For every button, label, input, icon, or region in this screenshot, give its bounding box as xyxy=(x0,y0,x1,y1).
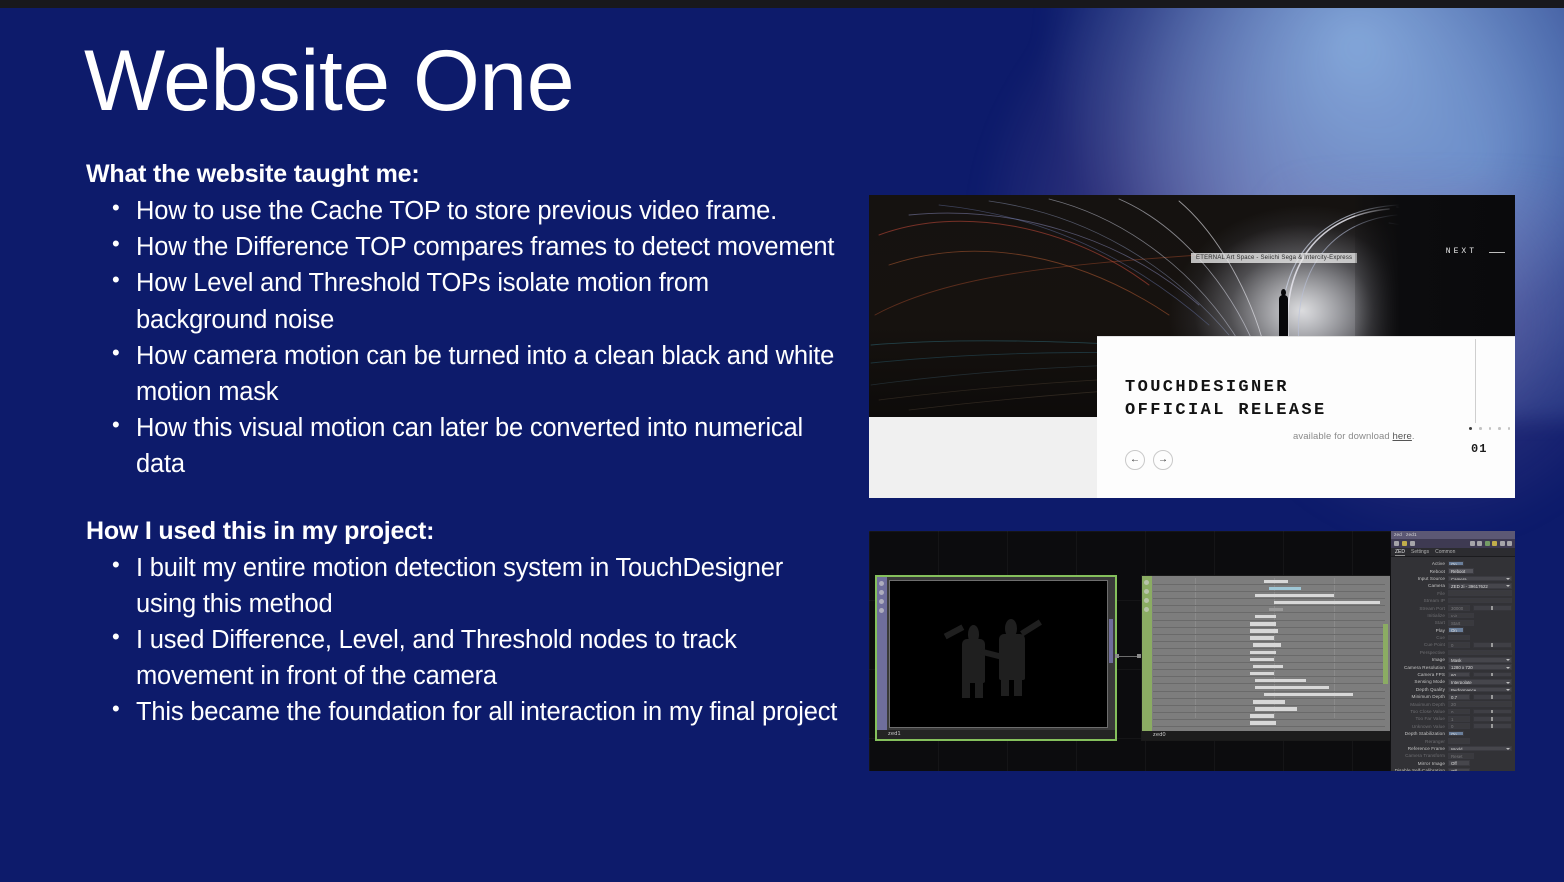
parameter-slider[interactable] xyxy=(1473,723,1512,729)
table-row xyxy=(1153,670,1385,677)
parameter-label: Camera Transform xyxy=(1391,753,1445,758)
presentation-slide: Website One What the website taught me: … xyxy=(0,0,1564,882)
table-row xyxy=(1153,613,1385,620)
table-row xyxy=(1153,621,1385,628)
parameters-title-bar: zed zed1 xyxy=(1391,531,1515,539)
parameter-label: Cue Point xyxy=(1391,642,1445,647)
node-left-strip xyxy=(877,577,887,739)
parameters-tabs: ZED Settings Common xyxy=(1391,548,1515,557)
table-row xyxy=(1153,692,1385,699)
table-row xyxy=(1153,727,1385,729)
next-dash-icon xyxy=(1489,252,1505,253)
table-row xyxy=(1153,628,1385,635)
parameter-value-field xyxy=(1448,598,1512,604)
parameters-title-left: zed xyxy=(1394,531,1402,539)
parameter-value-field[interactable]: Off xyxy=(1448,768,1470,771)
parameter-dropdown[interactable]: Performance xyxy=(1448,687,1512,693)
parameter-label: File xyxy=(1391,591,1445,596)
parameter-row: ActiveOn xyxy=(1391,560,1512,567)
parameter-value-field[interactable]: 0.7 xyxy=(1448,694,1470,700)
section-heading-used: How I used this in my project: xyxy=(86,517,846,546)
parameter-toggle[interactable]: On xyxy=(1448,731,1464,737)
carousel-dot[interactable] xyxy=(1489,427,1492,430)
parameter-label: Reboot xyxy=(1391,569,1445,574)
table-row xyxy=(1153,663,1385,670)
page-number: 01 xyxy=(1471,442,1487,456)
parameter-slider[interactable] xyxy=(1473,672,1512,678)
table-row xyxy=(1153,578,1385,585)
table-row xyxy=(1153,656,1385,663)
silhouette-person-right-leg2 xyxy=(1014,674,1023,696)
table-row xyxy=(1153,706,1385,713)
parameter-label: Reference Frame xyxy=(1391,746,1445,751)
parameter-label: Camera Resolution xyxy=(1391,665,1445,670)
next-label[interactable]: NEXT xyxy=(1446,247,1477,256)
parameter-toggle[interactable]: On xyxy=(1448,627,1464,633)
parameter-row: Stream Port30000 xyxy=(1391,604,1512,611)
silhouette-person-right-body xyxy=(999,634,1025,681)
parameter-slider[interactable] xyxy=(1473,709,1512,715)
node-table-content xyxy=(1153,578,1385,729)
tab-common[interactable]: Common xyxy=(1435,549,1455,555)
parameter-row: Minimum Depth0.7 xyxy=(1391,693,1512,700)
node-name-label: zed0 xyxy=(1142,731,1390,740)
parameter-dropdown[interactable]: World xyxy=(1448,746,1512,752)
release-announcement-panel: TOUCHDESIGNEROFFICIAL RELEASE available … xyxy=(1097,336,1515,498)
node-output-port[interactable] xyxy=(1115,654,1119,658)
parameter-row: Perspective xyxy=(1391,649,1512,656)
parameter-button: Start xyxy=(1448,620,1474,626)
release-headline-line2: OFFICIAL RELEASE xyxy=(1125,401,1327,420)
parameter-label: Input Source xyxy=(1391,576,1445,581)
parameters-panel: zed zed1 ZE xyxy=(1390,531,1515,771)
parameter-value-field[interactable]: 0 xyxy=(1448,642,1470,648)
edit-icon[interactable] xyxy=(1470,541,1475,546)
table-row xyxy=(1153,699,1385,706)
vertical-rule xyxy=(1475,339,1476,423)
parameter-value-field[interactable]: Off xyxy=(1448,760,1470,766)
parameter-value-field[interactable]: 0 xyxy=(1448,709,1470,715)
parameter-label: Stream Port xyxy=(1391,606,1445,611)
node-name-label: zed1 xyxy=(877,730,1115,739)
help-icon[interactable] xyxy=(1394,541,1399,546)
node-scrollbar[interactable] xyxy=(1383,624,1388,684)
parameter-dropdown[interactable]: Mask xyxy=(1448,657,1512,663)
table-row xyxy=(1153,649,1385,656)
parameter-label: Play xyxy=(1391,628,1445,633)
parameter-row: Stream IP xyxy=(1391,597,1512,604)
parameter-label: Too Close Value xyxy=(1391,709,1445,714)
parameter-slider[interactable] xyxy=(1473,716,1512,722)
flag-icon[interactable] xyxy=(1477,541,1482,546)
gear-icon[interactable] xyxy=(1507,541,1512,546)
silhouette-figure xyxy=(1279,295,1288,341)
parameter-row: Depth StabilizationOn xyxy=(1391,730,1512,737)
table-row xyxy=(1153,606,1385,613)
download-subtext-before: available for download xyxy=(1293,431,1392,442)
photo-caption: ETERNAL Art Space - Seiichi Sega & Inter… xyxy=(1191,253,1357,263)
carousel-arrows: ← → xyxy=(1125,450,1173,470)
download-subtext-after: . xyxy=(1412,431,1415,442)
parameter-dropdown[interactable]: Interpolate xyxy=(1448,679,1512,685)
parameter-label: Initialize xyxy=(1391,613,1445,618)
table-row xyxy=(1153,720,1385,727)
parameter-row: Camera TransformReset xyxy=(1391,752,1512,759)
table-row xyxy=(1153,713,1385,720)
parameter-row: File xyxy=(1391,590,1512,597)
parameter-button: Init xyxy=(1448,613,1474,619)
arrow-right-icon[interactable]: → xyxy=(1153,450,1173,470)
parameter-row: StartStart xyxy=(1391,619,1512,626)
parameter-label: Start xyxy=(1391,620,1445,625)
table-row xyxy=(1153,599,1385,606)
warning-icon[interactable] xyxy=(1402,541,1407,546)
parameter-label: Disable Self-Calibration xyxy=(1391,768,1445,771)
parameter-value-field[interactable]: 60 xyxy=(1448,672,1470,678)
parameter-dropdown[interactable]: 1280 x 720 xyxy=(1448,664,1512,670)
parameter-label: Mirror Image xyxy=(1391,761,1445,766)
parameter-label: Sensing Mode xyxy=(1391,679,1445,684)
info-icon[interactable] xyxy=(1410,541,1415,546)
parameter-label: Active xyxy=(1391,561,1445,566)
parameter-label: Camera xyxy=(1391,583,1445,588)
table-row xyxy=(1153,585,1385,592)
list-item: How the Difference TOP compares frames t… xyxy=(104,229,846,265)
parameter-row: Unknown Value0 xyxy=(1391,723,1512,730)
parameter-value-field xyxy=(1448,738,1470,744)
parameter-label: Maximum Depth xyxy=(1391,702,1445,707)
parameter-row: Cue Point0 xyxy=(1391,641,1512,648)
release-headline-line1: TOUCHDESIGNER xyxy=(1125,378,1289,397)
parameter-toggle[interactable]: On xyxy=(1448,561,1464,567)
carousel-dot[interactable] xyxy=(1508,427,1511,430)
node-viewer-image xyxy=(889,580,1108,728)
parameter-button: Reset xyxy=(1448,753,1474,759)
parameter-value-field xyxy=(1448,635,1470,641)
refresh-icon[interactable] xyxy=(1485,541,1490,546)
parameter-row: Camera Resolution1280 x 720 xyxy=(1391,663,1512,670)
silhouette-person-left-arm xyxy=(944,625,964,639)
parameter-label: Too Far Value xyxy=(1391,716,1445,721)
parameter-row: InitializeInit xyxy=(1391,612,1512,619)
parameter-value-field[interactable]: 30000 xyxy=(1448,605,1470,611)
parameter-row: Maximum Depth20 xyxy=(1391,700,1512,707)
list-item: How to use the Cache TOP to store previo… xyxy=(104,193,846,229)
parameter-value-field xyxy=(1448,650,1512,656)
parameter-label: Image xyxy=(1391,657,1445,662)
list-item: I used Difference, Level, and Threshold … xyxy=(104,622,846,694)
parameter-row: Cue xyxy=(1391,634,1512,641)
parameters-rows: ActiveOnRebootRebootInput SourceCameraCa… xyxy=(1391,557,1515,771)
parameter-button[interactable]: Reboot xyxy=(1448,568,1474,574)
node-viewer-top[interactable]: zed1 xyxy=(875,575,1117,741)
silhouette-person-right-arm xyxy=(1020,619,1041,635)
bullet-list-used: I built my entire motion detection syste… xyxy=(104,550,846,731)
parameter-label: Perspective xyxy=(1391,650,1445,655)
parameter-value-field xyxy=(1448,590,1512,596)
parameter-row: Too Far Value1 xyxy=(1391,715,1512,722)
parameters-title-right: zed1 xyxy=(1406,531,1417,539)
parameter-value-field[interactable]: 1 xyxy=(1448,716,1470,722)
bullet-list-taught: How to use the Cache TOP to store previo… xyxy=(104,193,846,483)
carousel-dot[interactable] xyxy=(1498,427,1501,430)
list-item: How camera motion can be turned into a c… xyxy=(104,338,846,410)
parameter-label: Cue xyxy=(1391,635,1445,640)
parameter-slider[interactable] xyxy=(1473,605,1512,611)
parameter-slider[interactable] xyxy=(1473,642,1512,648)
folder-icon[interactable] xyxy=(1492,541,1497,546)
release-headline: TOUCHDESIGNEROFFICIAL RELEASE xyxy=(1125,377,1327,422)
parameter-row: Disable Self-CalibrationOff xyxy=(1391,767,1512,771)
parameter-value-field[interactable]: 0 xyxy=(1448,723,1470,729)
parameter-label: Camera FPS xyxy=(1391,672,1445,677)
parameter-row: Sensing ModeInterpolate xyxy=(1391,678,1512,685)
website-screenshot-image: ETERNAL Art Space - Seiichi Sega & Inter… xyxy=(869,195,1515,498)
parameter-row: Depth QualityPerformance xyxy=(1391,686,1512,693)
silhouette-person-left-leg xyxy=(962,677,971,697)
page-title: Website One xyxy=(84,38,574,124)
parameter-row: Too Close Value0 xyxy=(1391,708,1512,715)
carousel-dot[interactable] xyxy=(1479,427,1482,430)
plus-icon[interactable] xyxy=(1500,541,1505,546)
list-item: This became the foundation for all inter… xyxy=(104,694,846,730)
parameter-label: Minimum Depth xyxy=(1391,694,1445,699)
touchdesigner-screenshot-image: zed1 xyxy=(869,531,1515,771)
parameter-value-field: 20 xyxy=(1448,701,1512,707)
parameter-slider[interactable] xyxy=(1473,694,1512,700)
list-item: How this visual motion can later be conv… xyxy=(104,410,846,482)
silhouette-person-left-leg2 xyxy=(975,677,984,697)
parameter-label: Depth Quality xyxy=(1391,687,1445,692)
list-item: I built my entire motion detection syste… xyxy=(104,550,846,622)
parameter-row: Mirror ImageOff xyxy=(1391,760,1512,767)
node-table-dat[interactable]: zed0 xyxy=(1141,575,1391,741)
section-heading-taught: What the website taught me: xyxy=(86,160,846,189)
parameter-row: Input SourceCamera xyxy=(1391,575,1512,582)
slide-text-column: What the website taught me: How to use t… xyxy=(86,160,846,731)
table-row xyxy=(1153,642,1385,649)
parameter-row: Camera FPS60 xyxy=(1391,671,1512,678)
silhouette-person-right-leg xyxy=(1001,674,1010,696)
carousel-dots[interactable] xyxy=(1469,427,1510,430)
arrow-left-icon[interactable]: ← xyxy=(1125,450,1145,470)
node-flag-dots[interactable] xyxy=(1144,580,1149,612)
parameter-dropdown[interactable]: ZED 2i - 39617622 xyxy=(1448,583,1512,589)
download-subtext: available for download here. xyxy=(1293,431,1415,442)
window-top-bar xyxy=(0,0,1564,8)
parameter-label: Reranger xyxy=(1391,739,1445,744)
parameter-row: PlayOn xyxy=(1391,627,1512,634)
parameter-row: Reranger xyxy=(1391,737,1512,744)
table-row xyxy=(1153,592,1385,599)
parameter-row: RebootReboot xyxy=(1391,567,1512,574)
node-scrollbar[interactable] xyxy=(1109,619,1113,663)
parameter-row: Reference FrameWorld xyxy=(1391,745,1512,752)
download-link[interactable]: here xyxy=(1392,431,1411,442)
table-row xyxy=(1153,677,1385,684)
parameter-row: ImageMask xyxy=(1391,656,1512,663)
node-flag-dots[interactable] xyxy=(879,581,884,613)
parameter-dropdown[interactable]: Camera xyxy=(1448,576,1512,582)
carousel-dot[interactable] xyxy=(1469,427,1472,430)
parameter-row: CameraZED 2i - 39617622 xyxy=(1391,582,1512,589)
table-row xyxy=(1153,635,1385,642)
table-row xyxy=(1153,684,1385,691)
parameter-label: Stream IP xyxy=(1391,598,1445,603)
parameter-label: Depth Stabilization xyxy=(1391,731,1445,736)
parameter-label: Unknown Value xyxy=(1391,724,1445,729)
node-left-strip xyxy=(1142,576,1152,740)
list-item: How Level and Threshold TOPs isolate mot… xyxy=(104,265,846,337)
tab-settings[interactable]: Settings xyxy=(1411,549,1429,555)
parameters-toolbar xyxy=(1391,539,1515,548)
tab-zed[interactable]: ZED xyxy=(1395,549,1405,556)
